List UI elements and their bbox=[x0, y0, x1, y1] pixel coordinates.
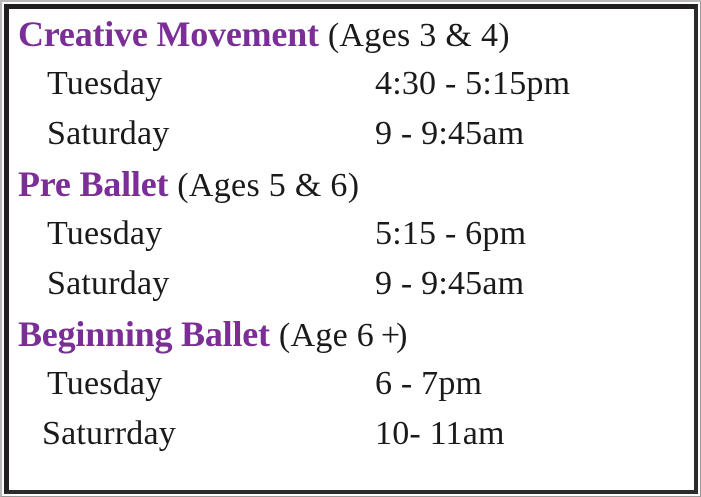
group-title: Pre Ballet bbox=[18, 164, 168, 204]
row-time: 9 - 9:45am bbox=[375, 109, 524, 159]
schedule-row: Tuesday 6 - 7pm bbox=[9, 359, 694, 409]
group-title: Creative Movement bbox=[18, 14, 319, 54]
row-day: Tuesday bbox=[47, 359, 162, 409]
group-ages-prefix: (Age 6 bbox=[279, 317, 383, 354]
group-header: Pre Ballet(Ages 5 & 6) bbox=[9, 159, 694, 209]
group-header: Creative Movement(Ages 3 & 4) bbox=[9, 9, 694, 59]
schedule-border-frame: Creative Movement(Ages 3 & 4) Tuesday 4:… bbox=[4, 4, 698, 494]
row-day: Tuesday bbox=[47, 209, 162, 259]
row-day: Saturday bbox=[47, 109, 169, 159]
group-ages: (Ages 3 & 4) bbox=[328, 17, 510, 54]
group-title: Beginning Ballet bbox=[18, 314, 270, 354]
row-time: 4:30 - 5:15pm bbox=[375, 59, 570, 109]
schedule-row: Tuesday 5:15 - 6pm bbox=[9, 209, 694, 259]
schedule-content: Creative Movement(Ages 3 & 4) Tuesday 4:… bbox=[9, 9, 694, 490]
group-header: Beginning Ballet(Age 6 +) bbox=[9, 309, 694, 359]
row-day: Saturday bbox=[47, 259, 169, 309]
row-time: 6 - 7pm bbox=[375, 359, 482, 409]
row-time: 9 - 9:45am bbox=[375, 259, 524, 309]
row-day: Saturrday bbox=[42, 409, 176, 459]
row-time: 5:15 - 6pm bbox=[375, 209, 526, 259]
row-day: Tuesday bbox=[47, 59, 162, 109]
group-ages-plus: +) bbox=[381, 317, 404, 354]
schedule-card: Creative Movement(Ages 3 & 4) Tuesday 4:… bbox=[0, 0, 701, 497]
schedule-row: Saturrday 10- 11am bbox=[9, 409, 694, 459]
group-ages: (Ages 5 & 6) bbox=[177, 167, 359, 204]
class-group-pre-ballet: Pre Ballet(Ages 5 & 6) Tuesday 5:15 - 6p… bbox=[9, 159, 694, 309]
row-time: 10- 11am bbox=[375, 409, 505, 459]
class-group-creative-movement: Creative Movement(Ages 3 & 4) Tuesday 4:… bbox=[9, 9, 694, 159]
schedule-row: Saturday 9 - 9:45am bbox=[9, 109, 694, 159]
schedule-row: Tuesday 4:30 - 5:15pm bbox=[9, 59, 694, 109]
group-ages: (Age 6 +) bbox=[279, 317, 404, 354]
class-group-beginning-ballet: Beginning Ballet(Age 6 +) Tuesday 6 - 7p… bbox=[9, 309, 694, 459]
schedule-row: Saturday 9 - 9:45am bbox=[9, 259, 694, 309]
